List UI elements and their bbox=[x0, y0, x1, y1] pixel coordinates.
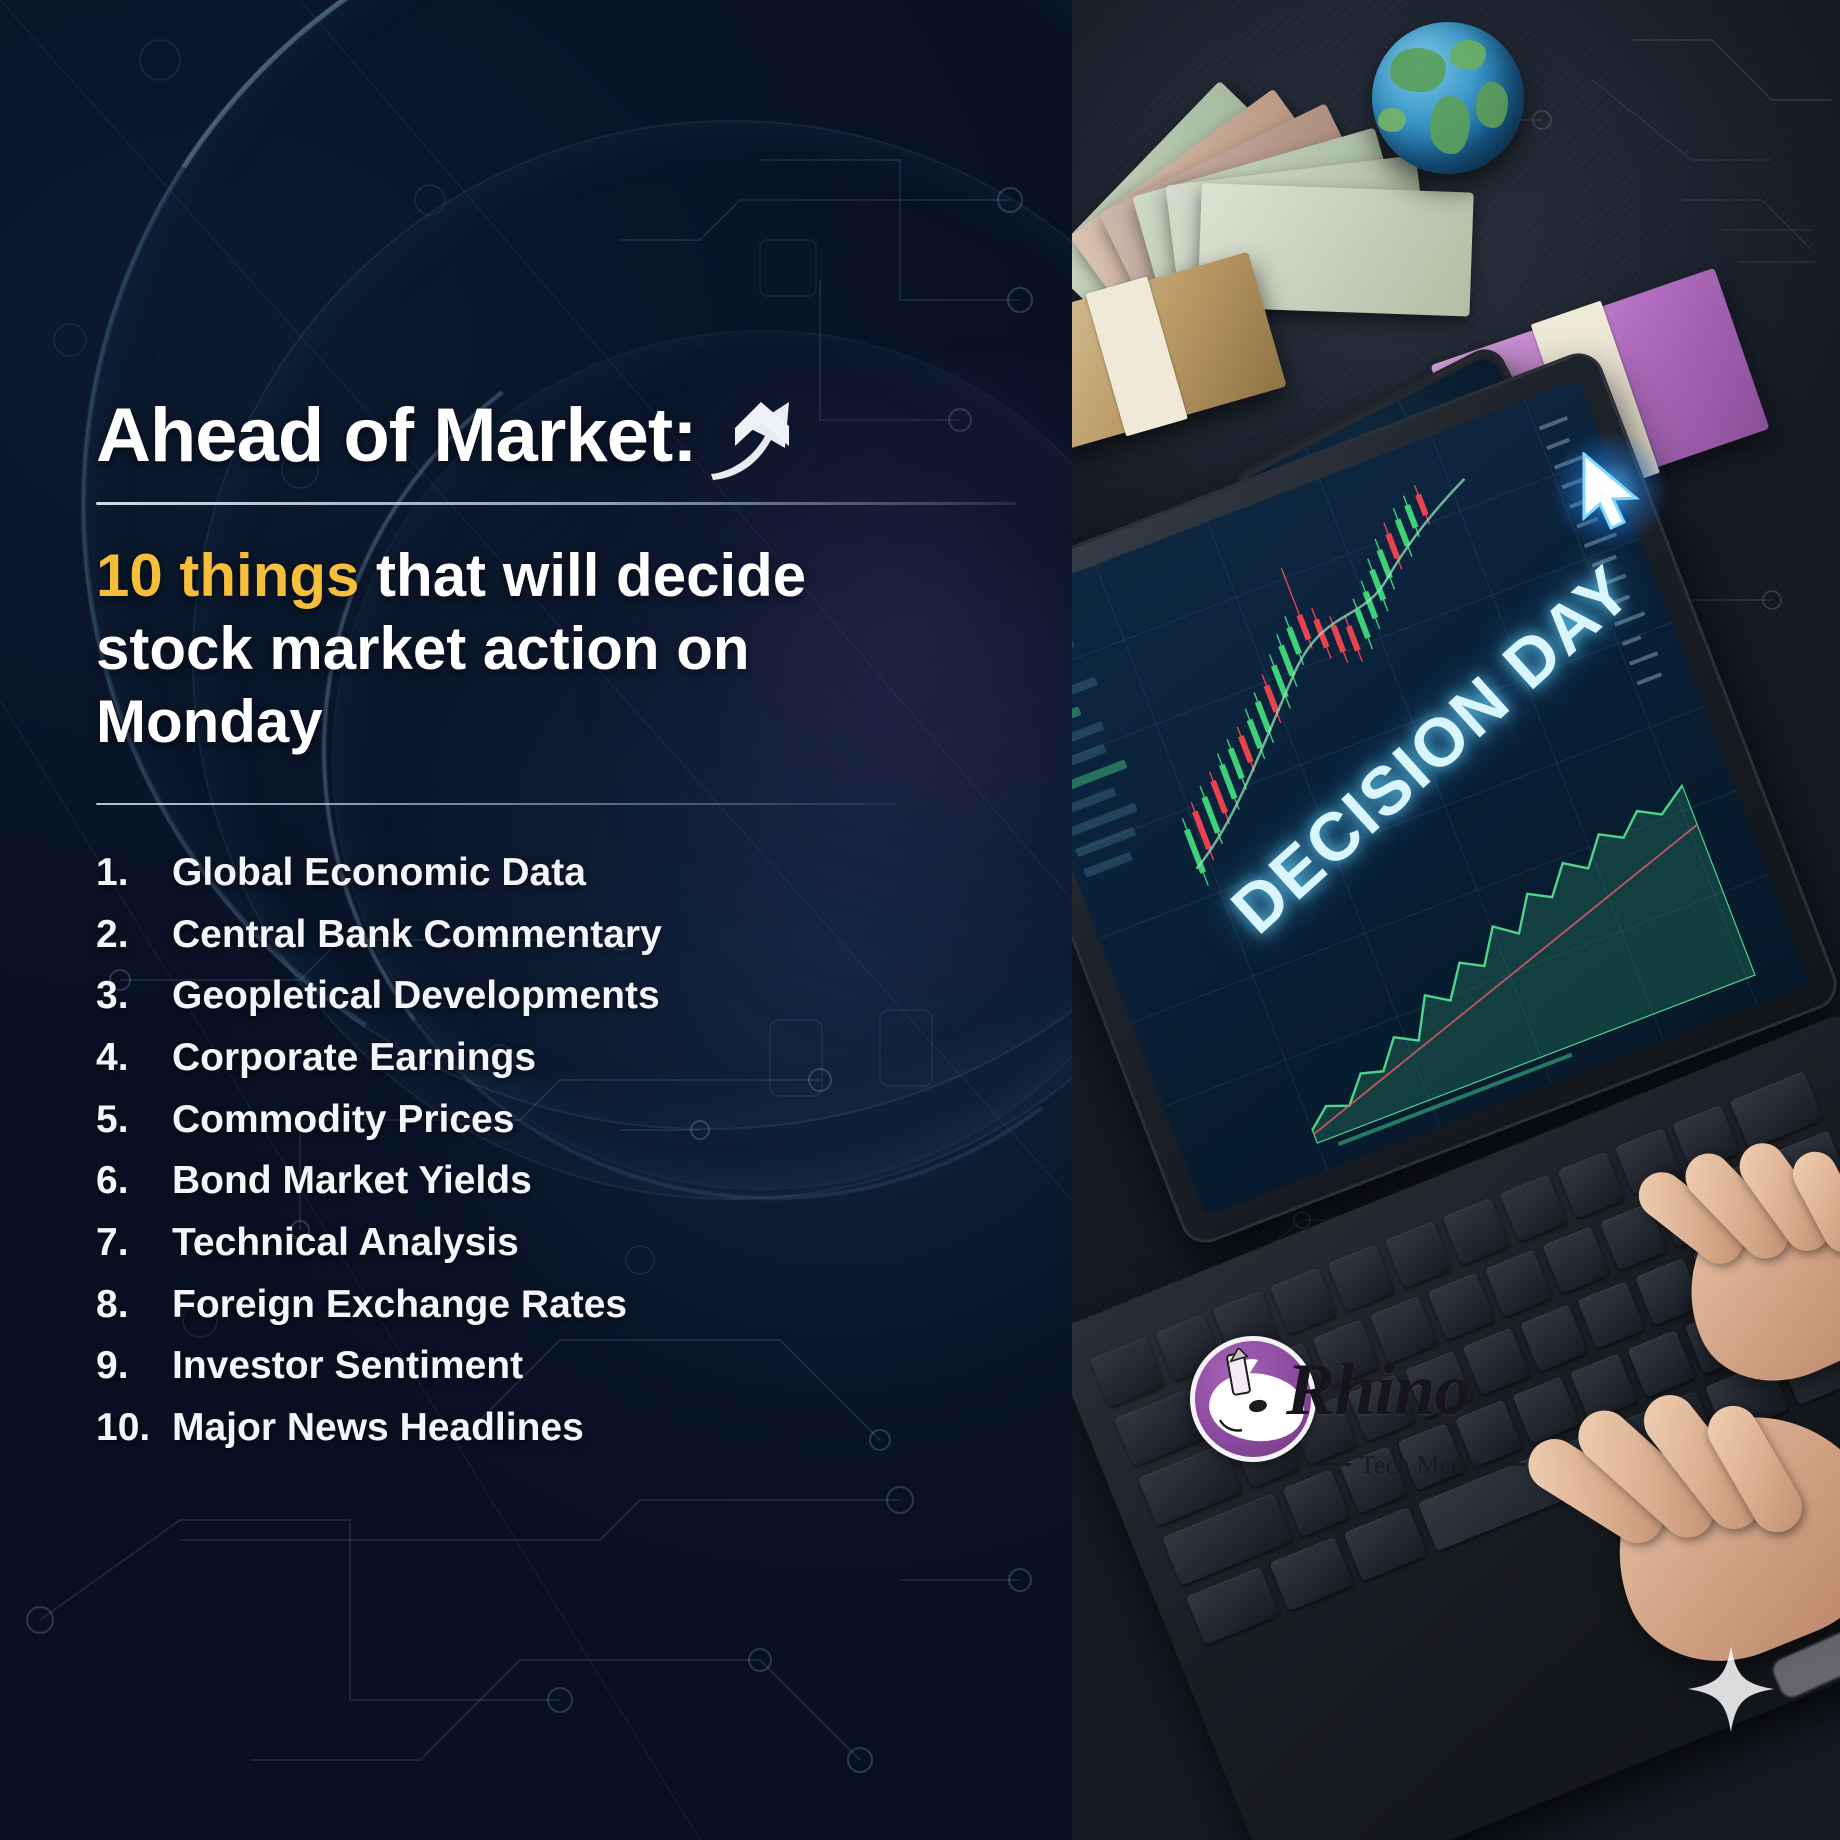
title-divider bbox=[96, 502, 1016, 505]
page-subtitle: 10 things that will decide stock market … bbox=[96, 539, 856, 759]
list-item-number: 3. bbox=[96, 970, 158, 1023]
list-item: 6.Bond Market Yields bbox=[96, 1151, 996, 1213]
logo-tagline-text: Tech Media bbox=[1360, 1452, 1483, 1479]
list-item: 8.Foreign Exchange Rates bbox=[96, 1274, 996, 1336]
left-text-panel: Ahead of Market: 10 things that will dec… bbox=[0, 0, 1072, 1840]
list-item-label: Investor Sentiment bbox=[172, 1340, 523, 1393]
list-item: 1.Global Economic Data bbox=[96, 843, 996, 905]
up-trend-arrow-icon bbox=[705, 392, 797, 480]
factors-list: 1.Global Economic Data 2.Central Bank Co… bbox=[96, 843, 996, 1459]
list-item-number: 1. bbox=[96, 847, 158, 900]
list-item-number: 10. bbox=[96, 1402, 158, 1455]
subtitle-highlight: 10 things bbox=[96, 542, 359, 609]
title-row: Ahead of Market: bbox=[96, 398, 996, 480]
right-photo-panel: OIL bbox=[1072, 0, 1840, 1840]
list-item-label: Global Economic Data bbox=[172, 847, 586, 900]
list-item-number: 5. bbox=[96, 1094, 158, 1147]
brand-logo: Rhino Tech Media bbox=[1190, 1330, 1520, 1520]
list-item: 3.Geopletical Developments bbox=[96, 966, 996, 1028]
logo-dash-left bbox=[1317, 1463, 1351, 1466]
list-item-label: Technical Analysis bbox=[172, 1217, 519, 1270]
logo-dash-right bbox=[1492, 1463, 1526, 1466]
sparkle-icon bbox=[1686, 1644, 1776, 1734]
list-item-label: Central Bank Commentary bbox=[172, 909, 662, 962]
list-item-label: Major News Headlines bbox=[172, 1402, 584, 1455]
mouse-cursor-icon[interactable] bbox=[1580, 452, 1644, 530]
list-item: 7.Technical Analysis bbox=[96, 1212, 996, 1274]
list-item: 9.Investor Sentiment bbox=[96, 1336, 996, 1398]
list-item-number: 8. bbox=[96, 1279, 158, 1332]
list-item-label: Geopletical Developments bbox=[172, 970, 660, 1023]
list-item: 2.Central Bank Commentary bbox=[96, 904, 996, 966]
subtitle-divider bbox=[96, 803, 896, 805]
list-item: 5.Commodity Prices bbox=[96, 1089, 996, 1151]
list-item-number: 9. bbox=[96, 1340, 158, 1393]
list-item-label: Commodity Prices bbox=[172, 1094, 514, 1147]
logo-tagline: Tech Media bbox=[1308, 1452, 1535, 1480]
headline-block: Ahead of Market: 10 things that will dec… bbox=[96, 398, 996, 1459]
globe-icon bbox=[1372, 22, 1524, 174]
list-item-label: Bond Market Yields bbox=[172, 1155, 532, 1208]
list-item-number: 4. bbox=[96, 1032, 158, 1085]
list-item: 10.Major News Headlines bbox=[96, 1397, 996, 1459]
list-item-number: 2. bbox=[96, 909, 158, 962]
list-item-label: Foreign Exchange Rates bbox=[172, 1279, 627, 1332]
list-item-number: 6. bbox=[96, 1155, 158, 1208]
page-title: Ahead of Market: bbox=[96, 398, 697, 474]
list-item-label: Corporate Earnings bbox=[172, 1032, 536, 1085]
list-item: 4.Corporate Earnings bbox=[96, 1027, 996, 1089]
logo-brand-text: Rhino bbox=[1286, 1348, 1470, 1433]
poster-canvas: Ahead of Market: 10 things that will dec… bbox=[0, 0, 1840, 1840]
factors-list-wrapper: 1.Global Economic Data 2.Central Bank Co… bbox=[96, 843, 996, 1459]
list-item-number: 7. bbox=[96, 1217, 158, 1270]
